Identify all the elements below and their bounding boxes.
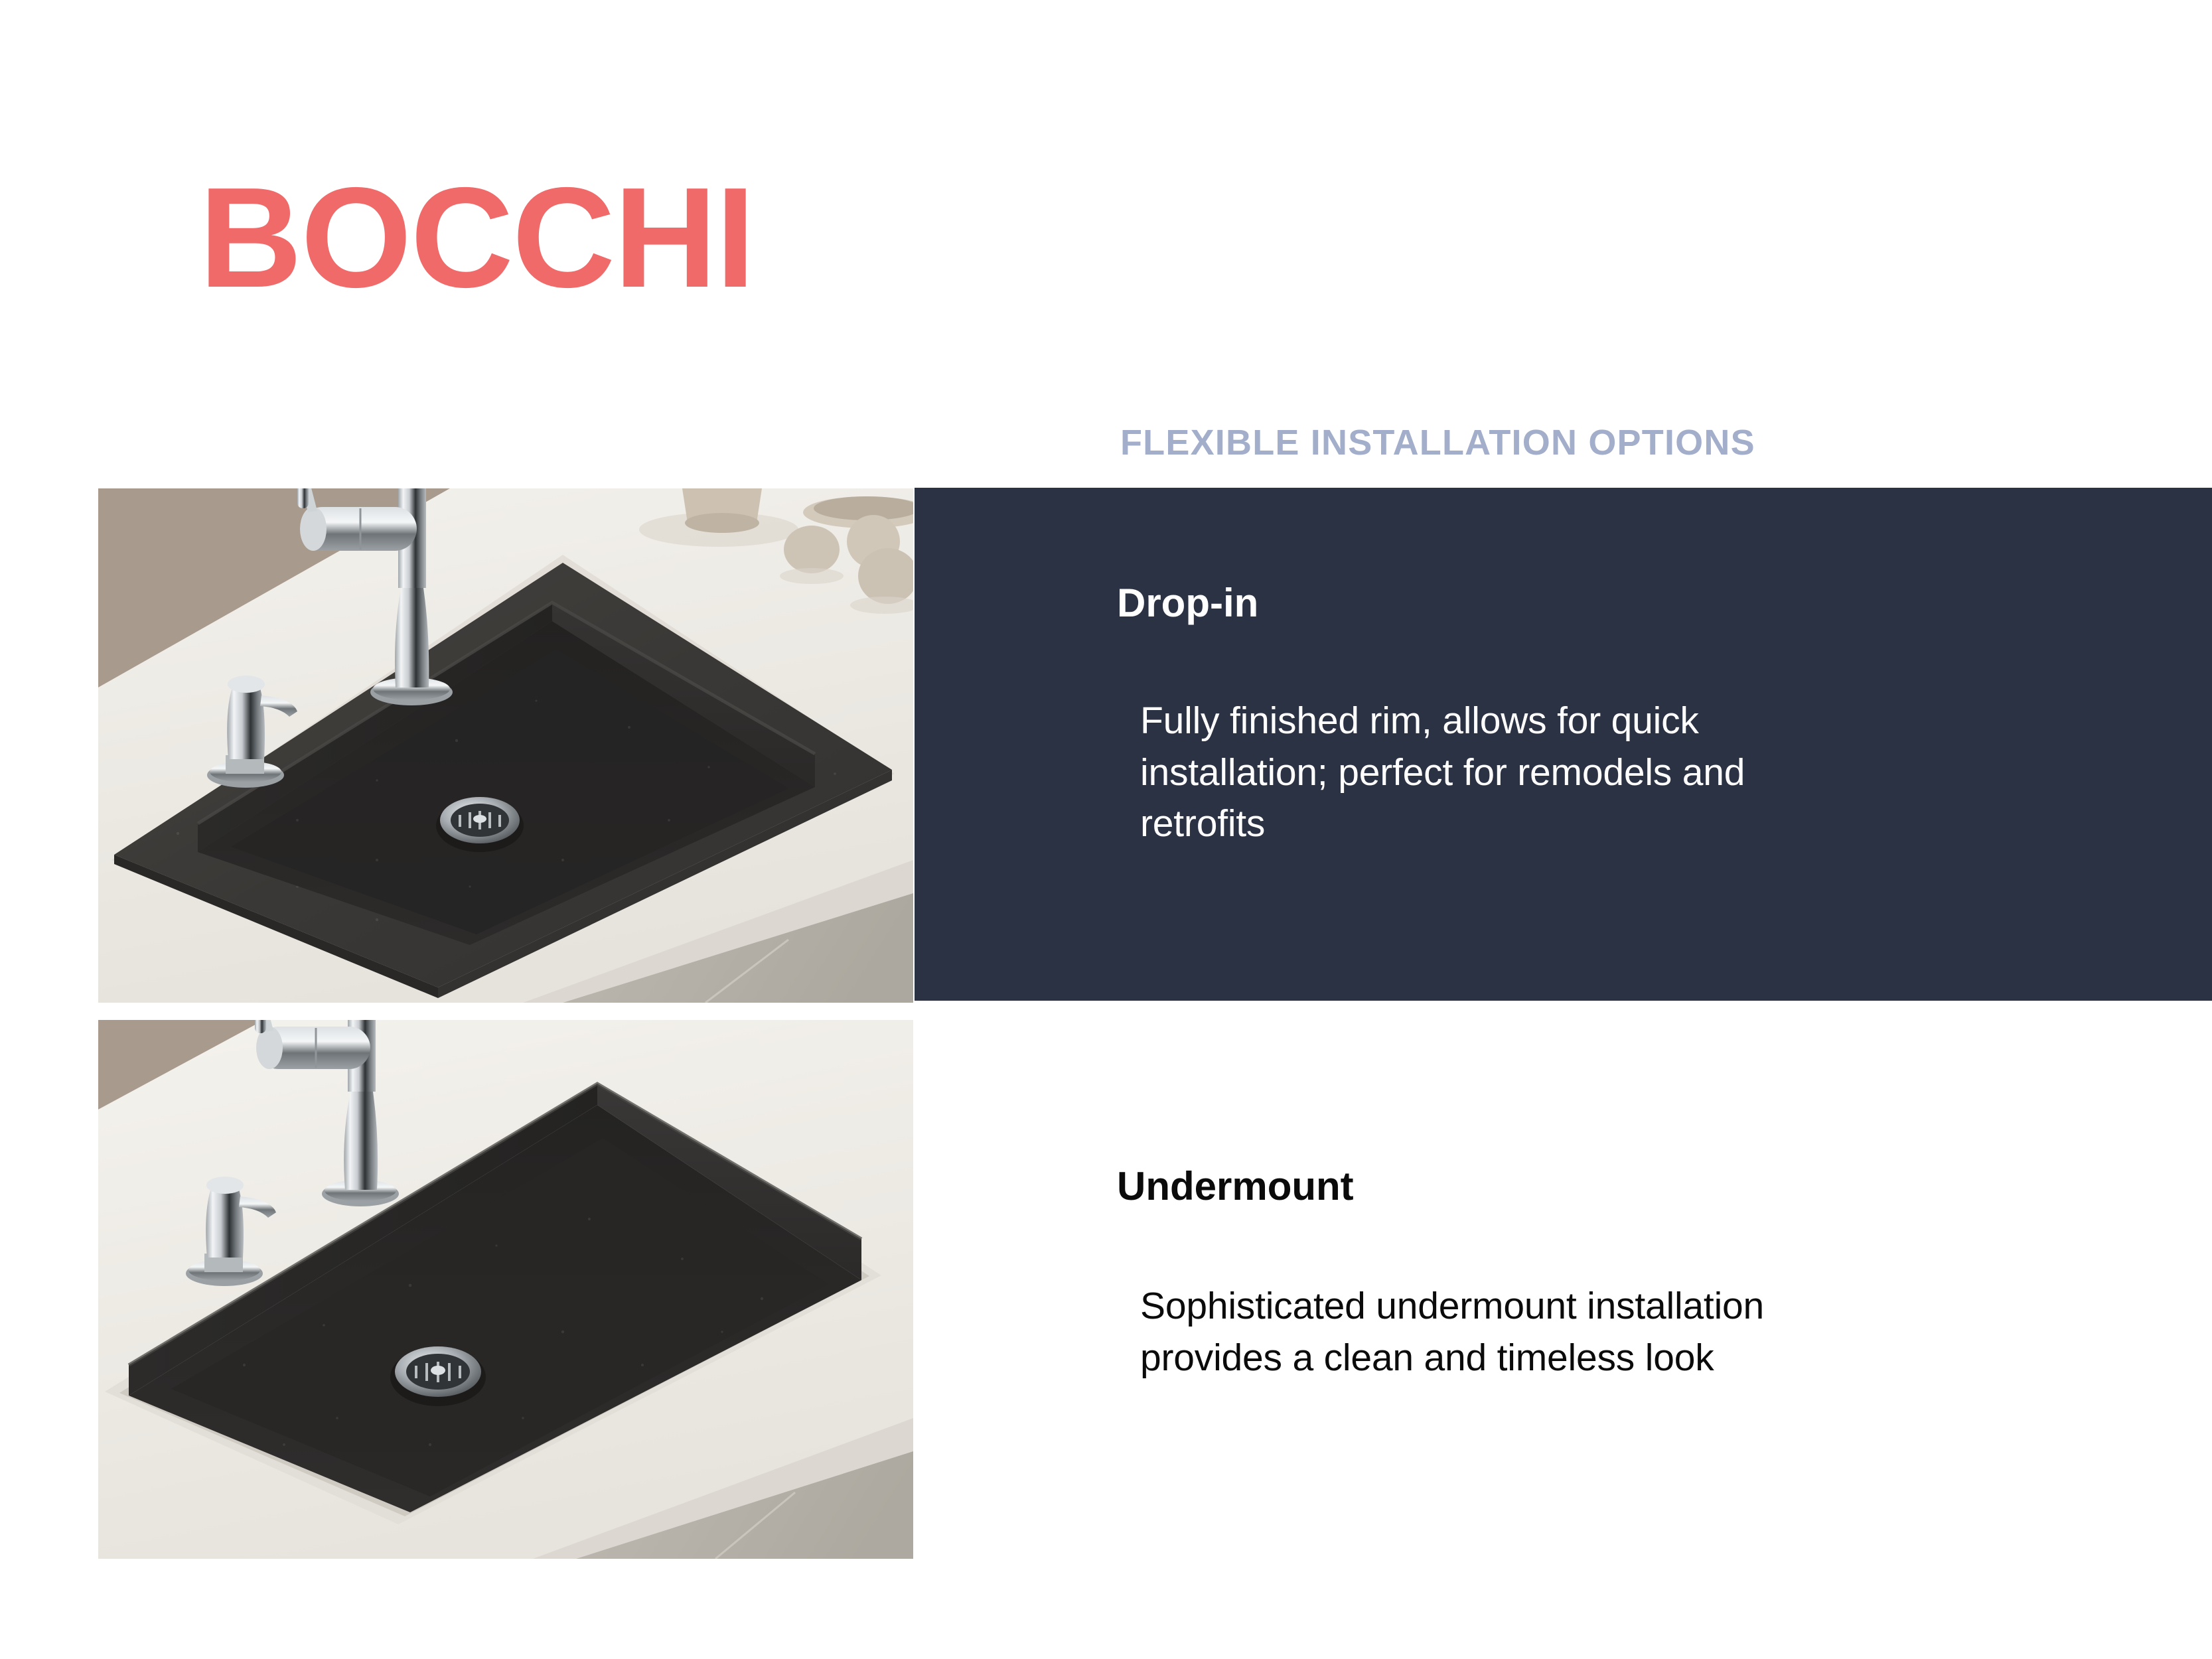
undermount-title: Undermount — [1117, 1165, 1354, 1208]
section-eyebrow-heading: FLEXIBLE INSTALLATION OPTIONS — [1120, 422, 1755, 463]
undermount-sink-illustration — [98, 1020, 913, 1559]
dropin-title: Drop-in — [1117, 581, 1258, 625]
dropin-description: Fully finished rim, allows for quick ins… — [1140, 695, 1870, 850]
dropin-sink-illustration — [98, 488, 913, 1003]
undermount-sink-photo — [98, 1020, 913, 1559]
dropin-sink-photo — [98, 488, 913, 1003]
undermount-description: Sophisticated undermount installation pr… — [1140, 1281, 1903, 1384]
brand-logo: BOCCHI — [199, 166, 754, 309]
